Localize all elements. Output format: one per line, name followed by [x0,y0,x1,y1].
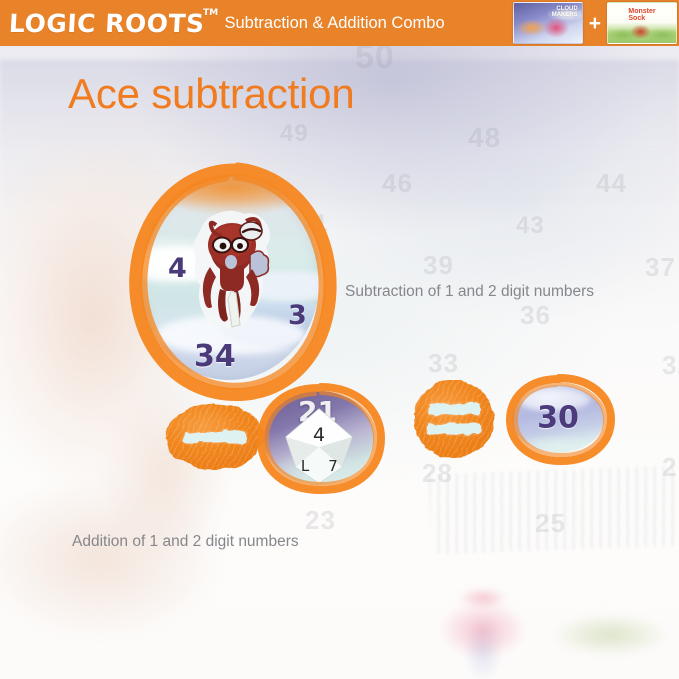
logo-logic-roots[interactable]: LOGIC ROOTS TM [8,11,205,36]
background-number: 25 [535,508,566,539]
product-thumb-cloud-makers-label: CLOUDMAKERS [552,6,578,19]
svg-text:L: L [301,457,310,475]
background-number: 46 [382,168,413,199]
background-number: 43 [516,212,545,240]
background-number: 28 [422,458,453,489]
minus-icon: − [184,432,246,443]
header-product-title: Subtraction & Addition Combo [224,14,444,33]
product-thumb-monster-sock-label: MonsterSock [628,8,655,22]
background-number: 39 [423,250,454,281]
background-number: 33 [428,348,459,379]
octopus-character-icon [186,207,278,333]
equals-icon: = [428,404,480,435]
scene-number-34: 34 [194,339,236,374]
caption-subtraction: Subtraction of 1 and 2 digit numbers [345,283,594,301]
trademark-icon: TM [203,9,219,18]
product-thumb-monster-sock[interactable]: MonsterSock [607,2,677,44]
logo-text: LOGIC ROOTS [8,9,205,38]
background-number: 2 [662,452,677,483]
background-number: 48 [468,122,501,154]
scene-number-4: 4 [168,253,187,284]
background-number: 49 [280,120,309,148]
ten-sided-die-icon: 4 L 7 [282,407,356,485]
addition-operand-scene: 21 4 L 7 [264,391,374,485]
minus-operator-blob: − [166,404,264,470]
background-number: 37 [645,252,676,283]
page-title: Ace subtraction [68,73,355,115]
header-product-thumbnails: CLOUDMAKERS + MonsterSock [513,0,677,46]
svg-text:7: 7 [328,457,338,475]
caption-addition: Addition of 1 and 2 digit numbers [72,533,299,551]
result-scene: 30 [512,385,604,453]
svg-text:4: 4 [313,424,325,446]
background-number: 36 [520,300,551,331]
header-bar: LOGIC ROOTS TM Subtraction & Addition Co… [0,0,679,46]
product-thumb-cloud-makers[interactable]: CLOUDMAKERS [513,2,583,44]
plus-icon: + [587,13,603,34]
background-hand-lower [0,470,280,679]
product-image: 5049484644434139373633322822325 LOGIC RO… [0,0,679,679]
background-number: 32 [662,350,679,381]
equals-operator-blob: = [414,380,494,458]
scene-number-3: 3 [288,300,307,331]
background-number: 23 [305,505,336,536]
background-foliage [540,600,679,670]
result-number: 30 [537,400,579,435]
subtraction-operand-scene: 4 3 34 [138,175,320,380]
background-number: 44 [596,168,627,199]
